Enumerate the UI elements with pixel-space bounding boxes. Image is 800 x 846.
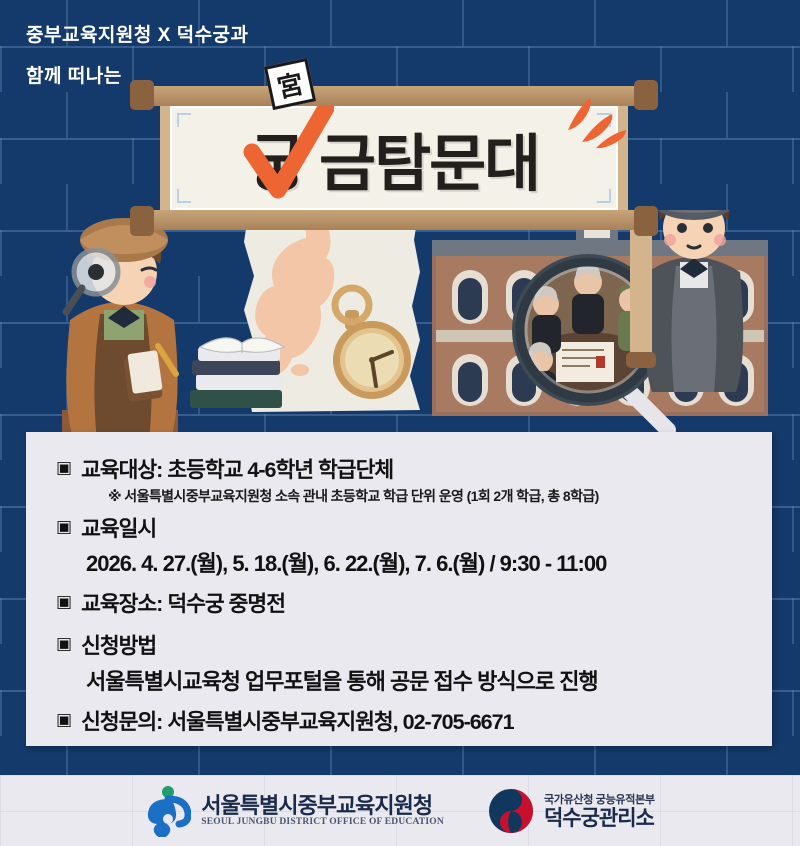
title-scroll-banner: 궁 금탐문대 宮: [160, 96, 628, 220]
logo2-office-name: 덕수궁관리소: [544, 807, 655, 830]
header-line-2: 함께 떠나는: [26, 67, 249, 86]
scroll-knob-bottom-left: [130, 206, 154, 236]
logo1-text-block: 서울특별시중부교육지원청 SEOUL JUNGBU DISTRICT OFFIC…: [201, 794, 444, 827]
info-value-date: 2026. 4. 27.(월), 5. 18.(월), 6. 22.(월), 7…: [86, 546, 742, 578]
girl-detective-icon: [626, 210, 743, 392]
seoul-education-office-logo-icon: [145, 785, 191, 837]
logo2-text-block: 국가유산청 궁능유적본부 덕수궁관리소: [544, 791, 655, 830]
info-item-place: ▣ 교육장소: 덕수궁 중명전: [56, 592, 742, 618]
info-label-contact: 신청문의: 서울특별시중부교육지원청, 02-705-6671: [81, 710, 514, 736]
logo-deoksugung-office: 국가유산청 궁능유적본부 덕수궁관리소: [488, 788, 655, 834]
info-item-target: ▣ 교육대상: 초등학교 4-6학년 학급단체: [56, 458, 742, 484]
info-value-apply: 서울특별시교육청 업무포털을 통해 공문 접수 방식으로 진행: [86, 664, 742, 696]
info-label-target: 교육대상: 초등학교 4-6학년 학급단체: [81, 458, 393, 484]
red-checkmark-icon: [242, 106, 334, 210]
bullet-icon: ▣: [56, 634, 72, 654]
stacked-books-icon: [190, 338, 284, 408]
korea-heritage-taegeuk-logo-icon: [488, 788, 534, 834]
bullet-icon: ▣: [56, 458, 72, 478]
logo2-agency-name: 국가유산청 궁능유적본부: [544, 791, 655, 807]
info-label-apply: 신청방법: [81, 634, 156, 660]
bullet-icon: ▣: [56, 710, 72, 730]
info-item-contact: ▣ 신청문의: 서울특별시중부교육지원청, 02-705-6671: [56, 710, 742, 736]
header-text: 중부교육지원청 X 덕수궁과 함께 떠나는: [26, 26, 249, 86]
illustration-svg: [0, 210, 800, 446]
info-item-date: ▣ 교육일시: [56, 517, 742, 543]
info-label-place: 교육장소: 덕수궁 중명전: [81, 592, 285, 618]
illustration-layer: [0, 210, 800, 440]
scroll-rod-bottom: [142, 210, 646, 230]
ink-splatter-icon: [562, 90, 632, 150]
info-panel: ▣ 교육대상: 초등학교 4-6학년 학급단체 ※ 서울특별시중부교육지원청 소…: [26, 432, 772, 746]
info-note-target: ※ 서울특별시중부교육지원청 소속 관내 초등학교 학급 단위 운영 (1회 2…: [108, 488, 742, 505]
hanja-badge: 宮: [264, 58, 316, 110]
boy-detective-icon: [62, 218, 178, 446]
header-line-1: 중부교육지원청 X 덕수궁과: [26, 25, 249, 46]
spacer: [56, 622, 742, 634]
scroll-knob-bottom-right: [634, 206, 658, 236]
info-label-date: 교육일시: [81, 517, 156, 543]
scroll-knob-top-right: [634, 80, 658, 110]
logo-seoul-education-office: 서울특별시중부교육지원청 SEOUL JUNGBU DISTRICT OFFIC…: [145, 785, 444, 837]
bullet-icon: ▣: [56, 517, 72, 537]
footer-logo-band: 서울특별시중부교육지원청 SEOUL JUNGBU DISTRICT OFFIC…: [0, 775, 800, 846]
poster-title: 궁 금탐문대: [172, 108, 616, 208]
info-item-apply: ▣ 신청방법: [56, 634, 742, 660]
scroll-body: 궁 금탐문대: [160, 96, 628, 220]
logo1-english-name: SEOUL JUNGBU DISTRICT OFFICE OF EDUCATIO…: [201, 817, 444, 827]
poster-root: 중부교육지원청 X 덕수궁과 함께 떠나는: [0, 0, 800, 846]
logo1-korean-name: 서울특별시중부교육지원청: [201, 794, 444, 817]
bullet-icon: ▣: [56, 592, 72, 612]
scroll-inner-panel: 궁 금탐문대: [170, 106, 618, 210]
